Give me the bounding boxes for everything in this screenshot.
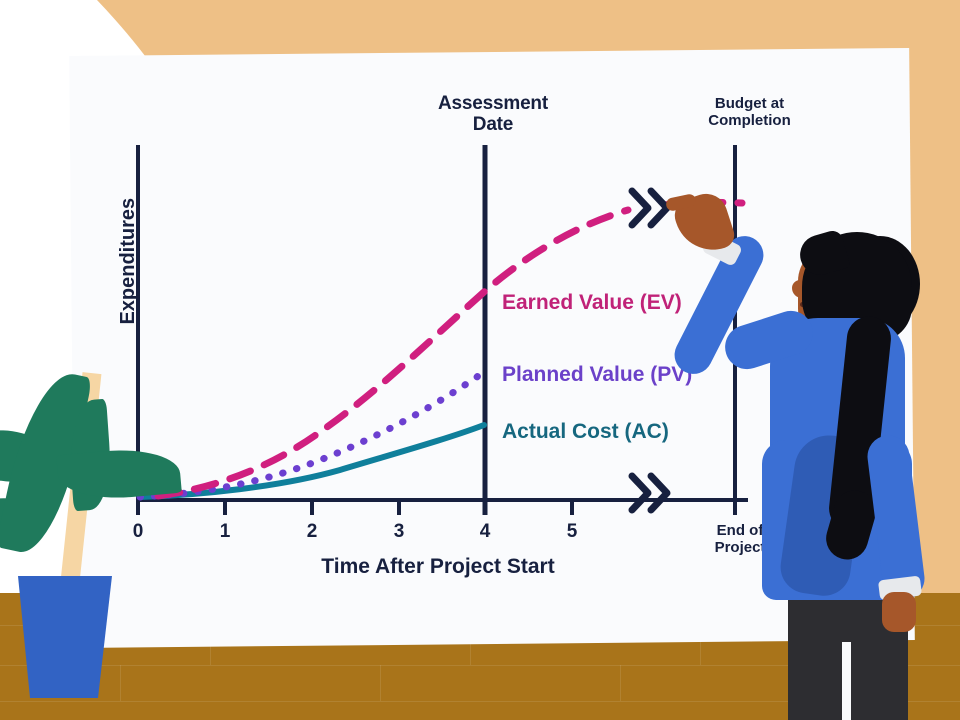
legend-earned-value: Earned Value (EV) <box>502 291 682 315</box>
axis-break-lower-icon <box>632 476 667 510</box>
person-leg-gap <box>842 642 851 720</box>
x-tick-label-0: 0 <box>123 521 153 543</box>
legend-actual-cost: Actual Cost (AC) <box>502 420 669 444</box>
x-axis-ticks <box>138 500 735 515</box>
y-axis-title: Expenditures <box>117 191 139 331</box>
budget-at-completion-label: Budget atCompletion <box>687 96 812 130</box>
presenter-figure <box>690 190 960 720</box>
x-axis-title: Time After Project Start <box>238 555 638 579</box>
illustration-scene: AssessmentDate Budget atCompletion Earne… <box>0 0 960 720</box>
person-hand-lowered <box>882 592 916 632</box>
x-tick-label-3: 3 <box>384 521 414 543</box>
x-tick-label-5: 5 <box>557 521 587 543</box>
x-tick-label-2: 2 <box>297 521 327 543</box>
x-tick-label-4: 4 <box>470 521 500 543</box>
x-tick-label-1: 1 <box>210 521 240 543</box>
legend-planned-value: Planned Value (PV) <box>502 363 692 387</box>
axis-break-upper-icon <box>632 191 667 225</box>
assessment-date-label: AssessmentDate <box>418 93 568 136</box>
